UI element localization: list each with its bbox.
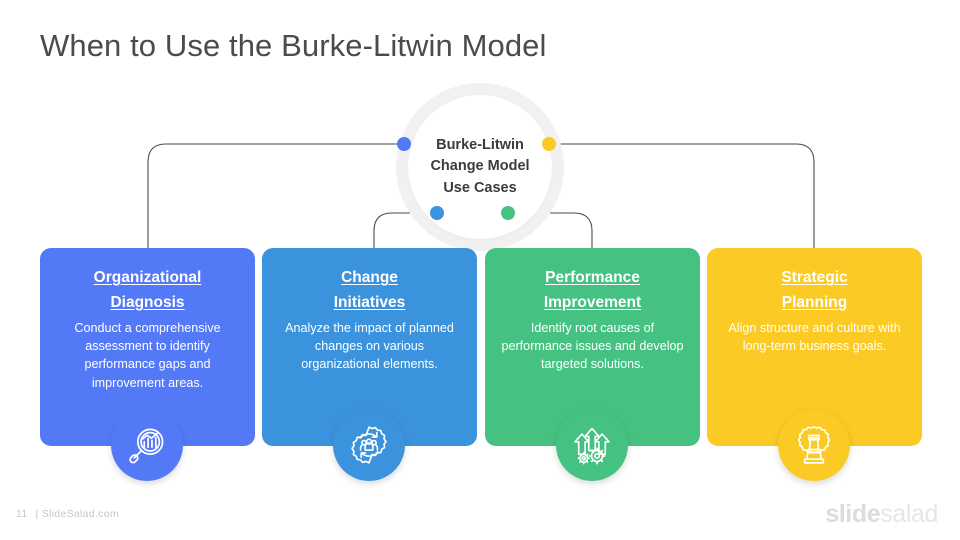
logo-thin-part: salad xyxy=(880,500,938,528)
growth-arrows-gears-icon xyxy=(570,423,614,467)
hub-dot-bottom-left xyxy=(430,206,444,220)
card-title: Performance Improvement xyxy=(499,266,686,316)
card-title: Change Initiatives xyxy=(276,266,463,316)
icon-badge-organizational-diagnosis[interactable] xyxy=(111,409,183,481)
chess-rook-gear-icon xyxy=(792,423,836,467)
footer: 11| SlideSalad.com xyxy=(16,508,119,520)
hub-circle: Burke-Litwin Change Model Use Cases xyxy=(408,95,552,239)
icon-badge-strategic-planning[interactable] xyxy=(778,409,850,481)
hub-dot-left xyxy=(397,137,411,151)
card-title: Organizational Diagnosis xyxy=(54,266,241,316)
page-number: 11 xyxy=(16,508,28,520)
connector-path-4 xyxy=(549,144,814,248)
card-description: Align structure and culture with long-te… xyxy=(721,319,908,356)
card-description: Analyze the impact of planned changes on… xyxy=(276,319,463,374)
hub-label: Burke-Litwin Change Model Use Cases xyxy=(430,135,529,198)
magnifier-bar-chart-icon xyxy=(125,423,169,467)
card-description: Conduct a comprehensive assessment to id… xyxy=(54,319,241,393)
icon-badge-change-initiatives[interactable] xyxy=(333,409,405,481)
hub-dot-right xyxy=(542,137,556,151)
card-title: Strategic Planning xyxy=(721,266,908,316)
icon-badge-performance-improvement[interactable] xyxy=(556,409,628,481)
card-description: Identify root causes of performance issu… xyxy=(499,319,686,374)
hub-dot-bottom-right xyxy=(501,206,515,220)
page-title: When to Use the Burke-Litwin Model xyxy=(40,28,547,64)
connector-path-1 xyxy=(148,144,404,248)
slidesalad-logo: slidesalad xyxy=(825,500,938,529)
logo-bold-part: slide xyxy=(825,500,880,528)
gear-people-cycle-icon xyxy=(347,423,391,467)
footer-site: | SlideSalad.com xyxy=(36,508,119,520)
